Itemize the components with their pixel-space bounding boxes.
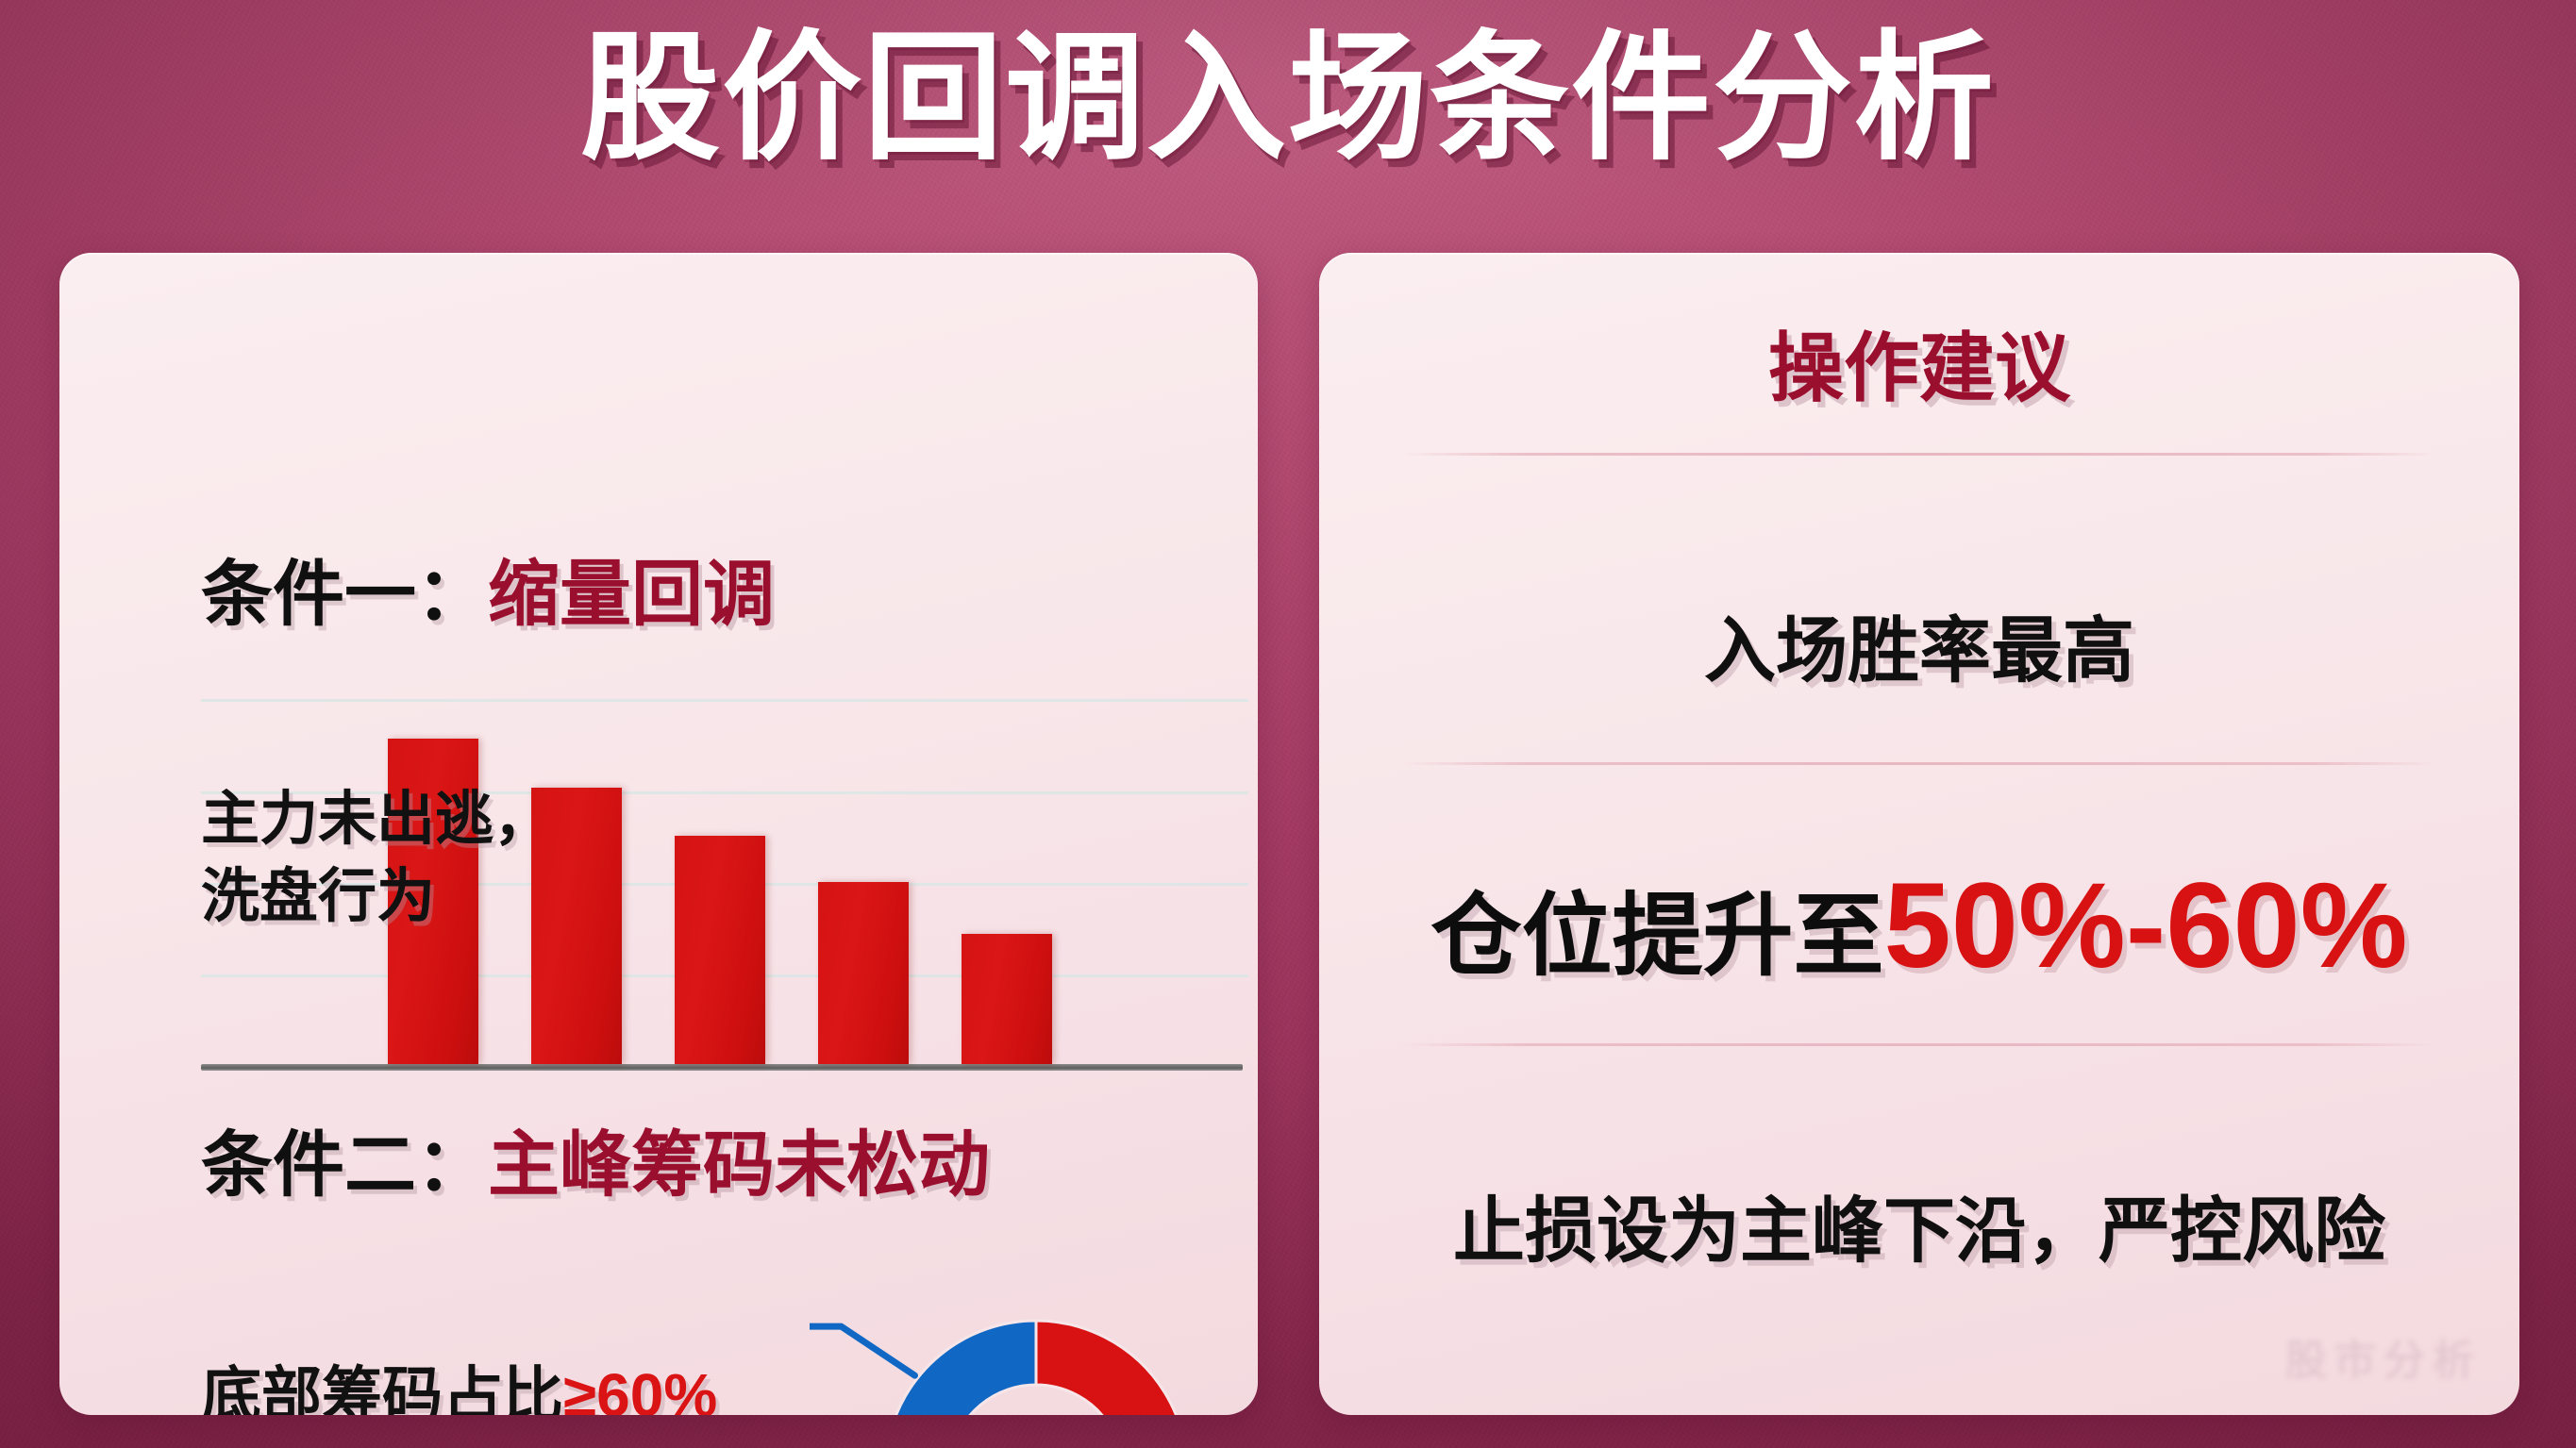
condition-two-row: 条件二：主峰筹码未松动 bbox=[201, 1107, 990, 1210]
bar-item bbox=[962, 934, 1052, 1064]
bar-item bbox=[818, 882, 909, 1064]
bar-note-line-2: 洗盘行为 bbox=[201, 858, 597, 936]
donut-svg bbox=[810, 1253, 1258, 1415]
bottom-chip-ratio: 底部筹码占比≥60% bbox=[201, 1347, 717, 1415]
bar-item bbox=[675, 836, 765, 1064]
ratio-value: ≥60% bbox=[563, 1361, 717, 1415]
bar-gridline bbox=[201, 699, 1248, 702]
bar-chart-note: 主力未出逃， 洗盘行为 bbox=[201, 781, 597, 936]
advice-card: 操作建议 入场胜率最高 仓位提升至50%-60% 止损设为主峰下沿，严控风险 股… bbox=[1319, 253, 2519, 1415]
bar-axis-line bbox=[201, 1064, 1243, 1071]
bar-note-line-1: 主力未出逃， bbox=[201, 781, 597, 858]
watermark-text: 股市分析 bbox=[2285, 1326, 2482, 1387]
condition-one-label: 条件一： bbox=[201, 555, 488, 635]
donut-slice bbox=[888, 1321, 1036, 1415]
condition-two-value: 主峰筹码未松动 bbox=[488, 1125, 990, 1206]
conditions-card: 条件一：缩量回调 主力未出逃， 洗盘行为 条件二：主峰筹码未松动 底部筹码占比≥… bbox=[59, 253, 1258, 1415]
condition-one-value: 缩量回调 bbox=[488, 555, 775, 635]
advice-line-position: 仓位提升至50%-60% bbox=[1319, 857, 2519, 995]
chip-distribution-donut bbox=[810, 1253, 1258, 1415]
condition-one-row: 条件一：缩量回调 bbox=[201, 536, 775, 640]
advice-divider bbox=[1402, 1043, 2436, 1046]
advice-line-stoploss: 止损设为主峰下沿，严控风险 bbox=[1319, 1173, 2519, 1276]
advice-divider bbox=[1402, 453, 2436, 456]
ratio-label: 底部筹码占比 bbox=[201, 1361, 563, 1415]
position-value: 50%-60% bbox=[1884, 858, 2408, 993]
advice-line-winrate: 入场胜率最高 bbox=[1319, 592, 2519, 696]
donut-callout-line bbox=[810, 1326, 914, 1375]
page-title: 股价回调入场条件分析 bbox=[0, 21, 2576, 177]
advice-divider bbox=[1402, 762, 2436, 765]
position-label: 仓位提升至 bbox=[1431, 886, 1884, 987]
advice-title: 操作建议 bbox=[1319, 308, 2519, 417]
condition-two-label: 条件二： bbox=[201, 1125, 488, 1206]
